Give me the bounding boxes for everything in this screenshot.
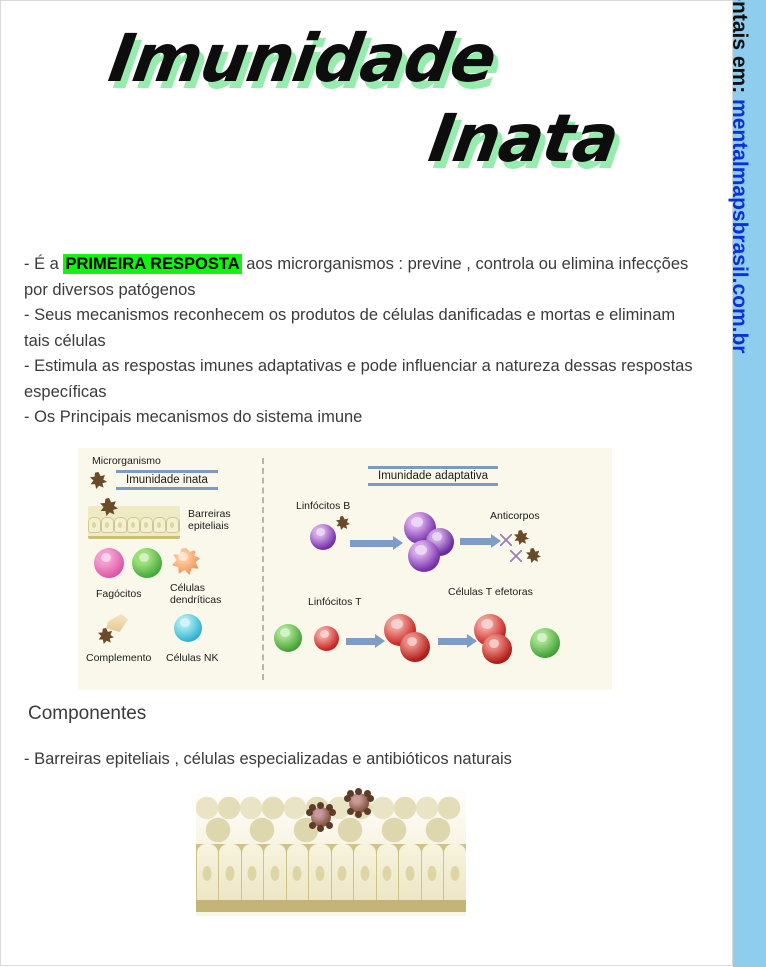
title-line-imunidade: Imunidade	[0, 26, 705, 92]
virus-particle-2-icon	[344, 788, 374, 818]
phagocyte-pink-icon	[94, 548, 124, 578]
t-cell-clone-2-icon	[400, 632, 430, 662]
intro-line-3: - Estimula as respostas imunes adaptativ…	[24, 354, 700, 405]
label-celulas-dendriticas: Células dendríticas	[170, 582, 234, 606]
b-cell-antigen-icon	[336, 516, 350, 530]
page-title: Imunidade Inata	[0, 26, 700, 172]
arrow-b-proliferation	[350, 540, 394, 547]
dendritic-cell-icon	[172, 548, 200, 576]
epithelial-cells	[88, 517, 180, 533]
effector-t-cell-2-icon	[482, 634, 512, 664]
sidebar-url[interactable]: mentalmapsbrasil.com.br	[728, 99, 751, 353]
b-cell-icon	[310, 524, 336, 550]
label-linfocitos-b: Linfócitos B	[296, 500, 350, 512]
epithelium-basement-membrane	[196, 900, 466, 916]
antibody-bound-antigen-1-icon	[514, 530, 529, 545]
microbe-icon	[90, 472, 107, 489]
intro-line-4: - Os Principais mecanismos do sistema im…	[24, 405, 700, 431]
sidebar-watermark-text: + Mapas Mentais em: mentalmapsbrasil.com…	[729, 0, 750, 353]
t-cell-icon	[314, 626, 339, 651]
label-complemento: Complemento	[86, 652, 151, 664]
virus-particle-1-icon	[306, 802, 336, 832]
intro-line-2: - Seus mecanismos reconhecem os produtos…	[24, 303, 700, 354]
label-microrganismo: Microrganismo	[92, 455, 161, 467]
epithelial-barrier-figure	[196, 786, 466, 916]
complement-microbe-icon	[98, 628, 114, 644]
arrow-t-effector	[438, 638, 468, 645]
antibody-1-icon	[500, 534, 512, 546]
page-root: Imunidade Inata - É a PRIMEIRA RESPOSTA …	[0, 0, 766, 967]
intro-text-block: - É a PRIMEIRA RESPOSTA aos microrganism…	[24, 252, 700, 431]
intro-line-1: - É a PRIMEIRA RESPOSTA aos microrganism…	[24, 252, 700, 303]
diagram-divider	[262, 458, 264, 680]
label-fagocitos: Fagócitos	[96, 588, 142, 600]
label-barreiras-epiteliais: Barreiras epiteliais	[188, 508, 252, 532]
label-celulas-nk: Células NK	[166, 652, 219, 664]
components-description: - Barreiras epiteliais , células especia…	[24, 750, 512, 769]
antibody-bound-antigen-2-icon	[526, 548, 541, 563]
antibody-2-icon	[510, 550, 522, 562]
intro-line-1-pre: - É a	[24, 255, 63, 273]
immunity-diagram: Microrganismo Imunidade inata Barreiras …	[78, 448, 612, 690]
highlighted-term: PRIMEIRA RESPOSTA	[63, 254, 241, 274]
panel-title-innate: Imunidade inata	[116, 470, 218, 490]
label-linfocitos-t: Linfócitos T	[308, 596, 362, 608]
panel-title-adaptive: Imunidade adaptativa	[368, 466, 498, 486]
target-cell-icon	[530, 628, 560, 658]
label-celulas-t-efetoras: Células T efetoras	[448, 586, 533, 598]
phagocyte-green-icon	[132, 548, 162, 578]
apc-cell-icon	[274, 624, 302, 652]
sidebar-watermark: + Mapas Mentais em: mentalmapsbrasil.com…	[733, 0, 766, 967]
epithelium-columnar-layer	[196, 844, 466, 902]
complement-icon	[106, 614, 128, 632]
label-anticorpos: Anticorpos	[490, 510, 540, 522]
section-heading-componentes: Componentes	[28, 703, 146, 725]
nk-cell-icon	[174, 614, 202, 642]
title-line-inata: Inata	[0, 106, 705, 172]
b-cell-clone-3-icon	[408, 540, 440, 572]
arrow-t-proliferation	[346, 638, 376, 645]
arrow-b-antibodies	[460, 538, 492, 545]
sidebar-prefix: + Mapas Mentais em:	[728, 0, 751, 99]
